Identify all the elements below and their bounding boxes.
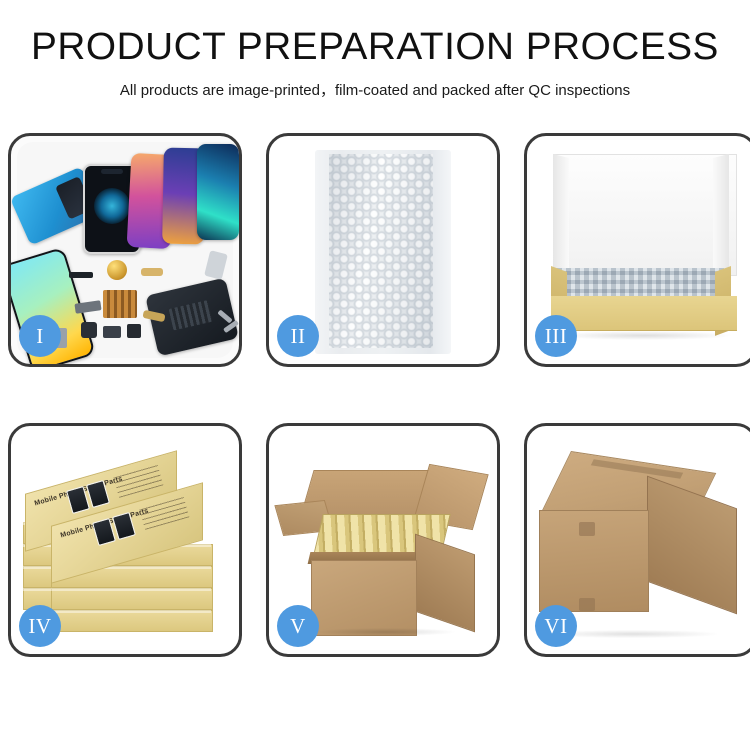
page-title: PRODUCT PREPARATION PROCESS	[0, 28, 750, 68]
camera-module-icon	[81, 322, 97, 338]
step-badge-2: II	[277, 315, 319, 357]
step-badge-4: IV	[19, 605, 61, 647]
step-badge-5: V	[277, 605, 319, 647]
vibrator-module-icon	[103, 326, 121, 338]
carton-right-side	[415, 534, 475, 633]
step-badge-6: VI	[535, 605, 577, 647]
step-badge-3: III	[535, 315, 577, 357]
page-header: PRODUCT PREPARATION PROCESS All products…	[0, 0, 750, 100]
battery-strip-icon	[69, 272, 93, 278]
step-panel-2: II	[266, 133, 500, 367]
sealed-carton-tab-upper	[579, 522, 595, 536]
speaker-module-icon	[107, 260, 127, 280]
flex-cable-gold-icon	[141, 268, 163, 276]
phone-screen-teal-icon	[197, 144, 239, 240]
connector-grid-icon	[103, 290, 137, 318]
step-panel-6: VI	[524, 423, 750, 657]
inner-box-lid	[553, 154, 737, 276]
inner-box-bubble-contents	[557, 268, 731, 298]
step-panel-4: Mobile Phone Spare Parts Mobile Phone Sp…	[8, 423, 242, 657]
boxed-stack-slab	[51, 588, 213, 610]
page-subtitle: All products are image-printed，film-coat…	[0, 79, 750, 100]
step-badge-1: I	[19, 315, 61, 357]
sealed-carton-tab-lower	[579, 598, 595, 611]
chip-ic-icon	[127, 324, 141, 338]
inner-box-front	[551, 296, 737, 331]
boxed-stack-slab	[51, 610, 213, 632]
process-steps-grid: I II III	[8, 133, 742, 657]
inner-box-shadow	[557, 331, 731, 340]
sealed-carton-right-side	[647, 476, 737, 615]
carton-front-face	[311, 560, 417, 636]
step-panel-5: V	[266, 423, 500, 657]
step-panel-1: I	[8, 133, 242, 367]
bubble-wrap-shading	[329, 154, 433, 348]
carton-shadow	[315, 628, 455, 636]
step-panel-3: III	[524, 133, 750, 367]
